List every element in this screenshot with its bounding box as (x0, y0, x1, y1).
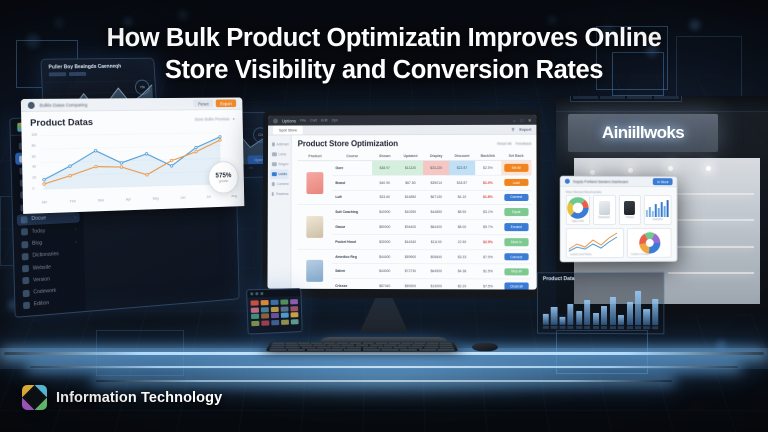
overlay-axis-tick (610, 326, 616, 329)
overlay-bar (593, 313, 599, 325)
sidebar-item-icon (23, 289, 30, 296)
sidebar-item-label: Lumy (278, 152, 286, 156)
discount-cell: $22.87 (449, 160, 475, 175)
maximize-icon[interactable]: □ (521, 117, 523, 122)
action-cell: Store in (501, 235, 532, 250)
avatar (28, 101, 35, 108)
feedback-button[interactable]: Feedback (516, 141, 532, 145)
backlink-cell: $7.5% (475, 279, 501, 290)
updated-cell: $89900 (398, 249, 424, 264)
storefront-sign-text: Ainiillwoks (602, 123, 684, 143)
overlay-bar (644, 309, 650, 325)
table-header-row: ProductCourseShownUpdatedDisplayDiscount… (298, 151, 532, 161)
table-row[interactable]: Gore$38.97$11220$33,220$22.87$2.5%Set Al… (298, 160, 532, 175)
updated-cell: $44340 (398, 234, 424, 249)
sidebar-item-label: Comtent (277, 182, 289, 186)
sidebar-item-icon (21, 216, 28, 223)
row-action-button[interactable]: Set All (504, 164, 529, 172)
overlay-bar (618, 315, 624, 325)
backlinks-card: Backlinks (644, 195, 672, 225)
palette-swatch[interactable] (251, 314, 260, 319)
updated-cell: $40250 (398, 205, 424, 220)
overlay-axis-tick (551, 326, 557, 329)
bokeh-dot (178, 10, 188, 20)
table-row[interactable]: Salem$44000$72730$64500$4.38$1.5%Step al… (297, 264, 531, 279)
x-tick: May (153, 197, 159, 201)
monitor-screen: Uptions File Cart Edit Opt – □ ✕ Spot St… (267, 115, 536, 290)
discount-cell: $8.90 (449, 205, 475, 220)
display-cell: $11100 (423, 234, 449, 249)
product-name-cell: Suit Coaching (332, 205, 372, 220)
y-tick: 60 (32, 154, 36, 158)
sidebar-item-label: Edition (34, 301, 50, 308)
backlink-cell: $2.5% (475, 160, 501, 175)
overlay-bar (627, 302, 633, 325)
table-row[interactable]: Gaour$80000$94400$84400$8.00$9.7%Enroled (297, 220, 531, 235)
reset-all-button[interactable]: Reset All (497, 141, 511, 145)
monitor-sidebar-item-rastress[interactable]: Rastress (270, 189, 289, 199)
discount-cell: $4.10 (449, 190, 475, 205)
sidebar-item-label: Docue (31, 216, 46, 223)
close-icon[interactable]: ✕ (528, 117, 531, 122)
table-column-header: Set Back (501, 151, 532, 161)
monitor-sidebar-item-lumy[interactable]: Lumy (270, 149, 289, 159)
product-thumbnail-cell (297, 205, 332, 249)
overlay-bar (601, 306, 607, 325)
overlay-bar (551, 307, 557, 324)
row-action-button[interactable]: Load (504, 179, 529, 187)
product-datas-card: Bulkle Datas Comparing Reset Export Prod… (21, 97, 245, 213)
palette-swatch[interactable] (280, 306, 288, 311)
analytics-cards: Sales 43% Sweatshirt Printed (561, 195, 677, 225)
x-tick: Jan (42, 200, 48, 204)
headline-line-2: Store Visibility and Conversion Rates (74, 54, 694, 86)
display-cell: $44850 (423, 205, 449, 220)
export-button[interactable]: Export (216, 99, 237, 107)
storefront-display-board (570, 96, 682, 102)
sidebar-item-icon (272, 172, 276, 176)
action-cell: Step all (501, 264, 532, 279)
palette-swatch[interactable] (271, 306, 279, 311)
menu-opt[interactable]: Opt (331, 118, 337, 122)
keyboard[interactable] (266, 342, 459, 352)
overlay-bar (568, 304, 574, 325)
row-action-button[interactable]: Connect (504, 194, 529, 202)
desktop-monitor: Uptions File Cart Edit Opt – □ ✕ Spot St… (262, 110, 540, 299)
discount-cell: $8.00 (449, 220, 475, 235)
growth-badge-caption: growth (219, 179, 229, 183)
discount-cell: $18.87 (449, 175, 475, 190)
palette-swatch[interactable] (270, 300, 278, 305)
discount-cell: 22.50 (449, 234, 475, 249)
table-row[interactable]: Amedico Reg$44400$89900$05840$3.33$7.9%C… (297, 249, 531, 264)
page-title: Product Store Optimization (298, 139, 398, 148)
backlink-cell: $3.1% (475, 205, 501, 220)
product-name-cell: Luft (332, 190, 372, 205)
bar-chart-icon (645, 199, 671, 217)
sweatshirt-thumbnail (599, 201, 610, 215)
display-cell: $84400 (423, 220, 449, 235)
x-tick: Mar (98, 198, 104, 202)
product-name-cell: Salem (332, 264, 372, 279)
action-cell: Connect (501, 190, 532, 205)
shown-cell: $30000 (372, 234, 398, 249)
y-tick: 40 (32, 165, 36, 169)
mouse[interactable] (472, 343, 499, 351)
x-tick: Fri (249, 166, 253, 170)
sidebar-item-icon (23, 302, 30, 309)
analytics-title: Supply Portland Sanders Dashboard (573, 179, 628, 183)
row-action-button[interactable]: Equal (504, 208, 529, 216)
monitor-app-name: Uptions (282, 118, 296, 123)
mini-line-chart (567, 231, 623, 255)
chevron-icon: › (75, 227, 77, 232)
y-tick: 20 (32, 176, 36, 180)
page-title: How Bulk Product Optimizatin Improves On… (0, 22, 768, 86)
product-name-cell: Gaour (332, 220, 372, 235)
chevron-icon: › (75, 239, 77, 244)
product-table: ProductCourseShownUpdatedDisplayDiscount… (297, 151, 532, 290)
palette-swatch[interactable] (290, 299, 298, 304)
discount-cell: $4.38 (449, 264, 475, 279)
action-cell: Connect (501, 249, 532, 264)
row-action-button[interactable]: Store in (504, 238, 529, 246)
overlay-axis-tick (644, 326, 650, 329)
shown-cell: $33.60 (372, 190, 398, 205)
overlay-bar (635, 291, 641, 326)
product-thumbnail (306, 172, 323, 194)
overlay-bar (576, 311, 582, 325)
shown-cell: $38.97 (372, 161, 398, 176)
row-action-button[interactable]: Step all (504, 268, 529, 276)
sidebar-item-icon (22, 253, 29, 260)
shown-cell: $44400 (372, 249, 398, 264)
overlay-axis-tick (559, 326, 565, 329)
display-cell: $13000 (423, 279, 449, 290)
backlinks-card-label: Backlinks (652, 218, 663, 221)
product-name-cell: Amedico Reg (332, 249, 372, 264)
sidebar-item-label: Seqpro (278, 162, 288, 166)
analytics-bottom: Linked Land Flows Custom Groups (561, 225, 677, 258)
storefront-sign: Ainiillwoks (568, 114, 718, 152)
action-cell: Set All (501, 160, 532, 175)
palette-swatch[interactable] (281, 313, 289, 318)
updated-cell: $44850 (398, 190, 424, 205)
overlay-axis-tick (576, 326, 582, 329)
overlay-axis-tick (652, 326, 658, 329)
palette-swatch[interactable] (271, 313, 279, 318)
donut-card: Sales 43% (566, 195, 590, 225)
palette-swatch[interactable] (290, 306, 298, 311)
row-action-button[interactable]: Enroled (504, 223, 529, 231)
product-thumbnail-cell (297, 161, 332, 205)
analytics-header: Supply Portland Sanders Dashboard In Sto… (561, 177, 677, 187)
shown-cell: $40000 (372, 205, 398, 220)
analytics-section-label: Most Wanted Merchandise (561, 187, 677, 195)
overlay-axis-tick (601, 326, 607, 329)
sidebar-item-label: Rastress (276, 192, 288, 196)
action-cell: Load (501, 175, 532, 190)
monitor-sidebar-item-comtent[interactable]: Comtent (270, 179, 289, 189)
line-chart-card-label: Linked Land Flows (570, 253, 592, 256)
pie-chart-icon (638, 232, 660, 254)
updated-cell: $67.80 (398, 175, 424, 190)
x-tick: Apr (126, 197, 131, 201)
bar-overlay-axis (543, 326, 658, 330)
overlay-bar (543, 314, 549, 325)
sidebar-item-label: Codework (33, 288, 56, 296)
app-icon (273, 118, 278, 123)
minimize-icon[interactable]: – (513, 117, 515, 122)
sidebar-item-icon (22, 265, 29, 272)
palette-swatch[interactable] (290, 319, 298, 324)
table-row[interactable]: Crissse$87440$89300$13000$2.20$7.5%Cloud… (297, 279, 532, 290)
shown-cell: $87440 (372, 279, 398, 290)
palette-swatch[interactable] (281, 319, 289, 324)
action-cell: Equal (501, 205, 532, 220)
palette-swatch[interactable] (251, 300, 260, 305)
sidebar-item-icon (272, 152, 276, 156)
shown-cell: $44000 (372, 264, 398, 279)
y-tick: 0 (32, 187, 34, 191)
palette-swatch[interactable] (280, 299, 288, 304)
monitor-sidebar-item-seqpro[interactable]: Seqpro (270, 159, 289, 169)
search-icon[interactable]: ⚲ (511, 127, 514, 132)
monitor-sidebar-item-adsmani[interactable]: Adsmani (270, 139, 289, 149)
x-tick: Jun (180, 196, 185, 200)
donut-card-label: Sales 43% (572, 220, 584, 223)
sidebar-item-icon (21, 228, 28, 235)
x-tick: Aug (231, 194, 237, 198)
backlink-cell: $7.9% (475, 249, 501, 264)
product-card-tab-label: Bulkle Datas Comparing (40, 102, 88, 107)
sweatshirt-card: Sweatshirt (593, 195, 616, 225)
palette-swatch[interactable] (271, 320, 279, 325)
updated-cell: $94400 (398, 220, 424, 235)
product-card-subtitle-text: Store Bulks Previous (195, 117, 230, 122)
backlink-cell: $9.7% (475, 220, 501, 235)
row-action-button[interactable]: Connect (504, 253, 529, 261)
headline-line-1: How Bulk Product Optimizatin Improves On… (74, 22, 694, 54)
hero-graphic: Produlibar – ⚲ ▦ Bulk DatasOptimization▾… (0, 0, 768, 432)
in-stock-badge[interactable]: In Stock (653, 178, 672, 185)
menu-file[interactable]: File (300, 118, 306, 122)
line-chart-card: Linked Land Flows (566, 228, 624, 258)
product-data-bar-overlay: Product Data (537, 272, 664, 335)
product-thumbnail (306, 260, 323, 282)
table-column-header: Shown (372, 151, 398, 161)
product-thumbnail (306, 216, 323, 238)
export-button[interactable]: Export (519, 127, 531, 131)
action-cell: Enroled (501, 220, 532, 235)
palette-swatch[interactable] (261, 313, 269, 318)
overlay-bar (652, 299, 658, 326)
overlay-axis-tick (543, 326, 549, 329)
bar-overlay-title: Product Data (538, 273, 663, 283)
display-cell: $64500 (423, 264, 449, 279)
sidebar-item-icon (21, 241, 28, 248)
backlink-cell: $1.0% (475, 175, 501, 190)
pie-chart-card-label: Custom Groups (631, 253, 649, 256)
overlay-bar (610, 297, 616, 325)
sidebar-item-icon (272, 182, 275, 186)
display-board-cell (600, 96, 625, 99)
x-tick: Feb (70, 199, 76, 203)
sidebar-item-icon (272, 162, 276, 166)
sweatshirt-card-label: Sweatshirt (598, 216, 610, 219)
overlay-axis-tick (618, 326, 624, 329)
chart-x-ticks: JanFebMarAprMayJunJulAug (42, 194, 238, 204)
sidebar-item-icon (22, 277, 29, 284)
overlay-axis-tick (627, 326, 633, 329)
overlay-axis-tick (635, 326, 641, 329)
product-thumbnail-cell (297, 249, 332, 290)
product-name-cell: Gore (332, 161, 372, 176)
table-column-header: Display (423, 151, 449, 161)
product-name-cell: Crissse (332, 279, 372, 290)
jacket-card: Printed (619, 195, 641, 225)
palette-swatch[interactable] (251, 321, 260, 326)
y-tick: 100 (31, 133, 37, 137)
pie-chart-card: Custom Groups (627, 228, 672, 258)
jacket-card-label: Printed (626, 216, 634, 219)
sidebar-item-label: Adsmani (276, 142, 288, 146)
sidebar-item-label: Dictionaries (32, 251, 59, 259)
menu-edit[interactable]: Edit (321, 118, 328, 122)
display-cell: $67130 (423, 190, 449, 205)
table-row[interactable]: Brand$40.90$67.80$39014$18.87$1.0%Load (298, 175, 532, 190)
display-board-cell (627, 96, 652, 99)
pinwheel-logo-icon (22, 385, 47, 410)
table-column-header: Updated (398, 151, 424, 161)
neon-strip (4, 352, 764, 355)
brand-lockup: Information Technology (22, 385, 222, 410)
backlink-cell: $1.8% (475, 190, 501, 205)
palette-swatch[interactable] (260, 300, 268, 305)
backlink-cell: $1.5% (475, 264, 501, 279)
display-board-cell (573, 96, 598, 99)
chevron-down-icon[interactable]: ▾ (233, 116, 235, 121)
updated-cell: $11220 (398, 161, 424, 176)
product-name-cell: Pocket Hood (332, 234, 372, 249)
shown-cell: $40.90 (372, 175, 398, 190)
chevron-icon: › (74, 215, 76, 220)
palette-swatch[interactable] (261, 307, 269, 312)
table-row[interactable]: Suit Coaching$40000$40250$44850$8.90$3.1… (297, 205, 531, 220)
x-tick: Jul (206, 195, 210, 199)
monitor-sidebar-item-uablis[interactable]: Uablis (270, 169, 289, 179)
palette-swatch[interactable] (261, 320, 269, 325)
table-body: Gore$38.97$11220$33,220$22.87$2.5%Set Al… (297, 160, 532, 289)
overlay-axis-tick (584, 326, 590, 329)
sidebar-item-label: Version (33, 276, 50, 283)
discount-cell: $2.20 (449, 279, 475, 290)
product-card-subtitle: Store Bulks Previous ▾ (195, 116, 235, 121)
table-column-header: Course (332, 151, 372, 161)
table-column-header: Discount (449, 151, 475, 161)
table-column-header: Backlink (475, 151, 501, 161)
reset-button[interactable]: Reset (194, 100, 214, 108)
product-datas-chart: 100806040200 JanFebMarAprMayJunJulAug (31, 130, 237, 197)
display-cell: $39014 (423, 175, 449, 190)
menu-cart[interactable]: Cart (310, 118, 317, 122)
discount-cell: $3.33 (449, 249, 475, 264)
product-name-cell: Brand (332, 175, 372, 190)
table-row[interactable]: Luft$33.60$44850$67130$4.10$1.8%Connect (297, 190, 531, 205)
sidebar-item-label: Uablis (278, 172, 287, 176)
overlay-bar (559, 317, 565, 325)
analytics-panel: Supply Portland Sanders Dashboard In Sto… (560, 176, 678, 263)
tab-spot-store[interactable]: Spot Store (273, 125, 303, 134)
sidebar-item-label: Blog (32, 240, 42, 247)
sidebar-item-icon (272, 142, 275, 146)
palette-swatch[interactable] (290, 312, 298, 317)
overlay-axis-tick (568, 326, 574, 329)
y-tick: 80 (32, 144, 36, 148)
bar-overlay-bars (543, 285, 658, 325)
monitor-sidebar: AdsmaniLumySeqproUablisComtentRastress (267, 135, 291, 288)
overlay-bar (584, 300, 590, 325)
updated-cell: $72730 (398, 264, 424, 279)
brand-name: Information Technology (56, 390, 222, 406)
line-chart-svg (40, 130, 224, 193)
gadget-color-grid (247, 296, 301, 329)
table-column-header: Product (298, 151, 333, 161)
sidebar-item-label: Today (32, 228, 46, 235)
sidebar-item-icon (272, 192, 274, 196)
table-row[interactable]: Pocket Hood$30000$44340$1110022.50$2.5%S… (297, 234, 531, 249)
row-action-button[interactable]: Cloud all (504, 283, 529, 290)
color-palette-gadget (246, 288, 303, 335)
app-icon (565, 179, 570, 184)
shown-cell: $80000 (372, 220, 398, 235)
display-cell: $33,220 (423, 160, 449, 175)
neon-strip (96, 380, 672, 382)
palette-swatch[interactable] (251, 307, 260, 312)
display-cell: $05840 (423, 249, 449, 264)
sidebar-item-label: Website (33, 264, 51, 271)
display-board-cell (654, 96, 679, 99)
donut-chart-icon (567, 197, 589, 219)
updated-cell: $89300 (398, 279, 424, 290)
backlink-cell: $2.5% (475, 235, 501, 250)
monitor-tab-bar: Spot Store ⚲ Export (268, 125, 536, 136)
jacket-thumbnail (624, 201, 635, 215)
action-cell: Cloud all (501, 279, 532, 289)
overlay-axis-tick (593, 326, 599, 329)
monitor-main: Product Store Optimization Reset All Fee… (291, 135, 536, 290)
